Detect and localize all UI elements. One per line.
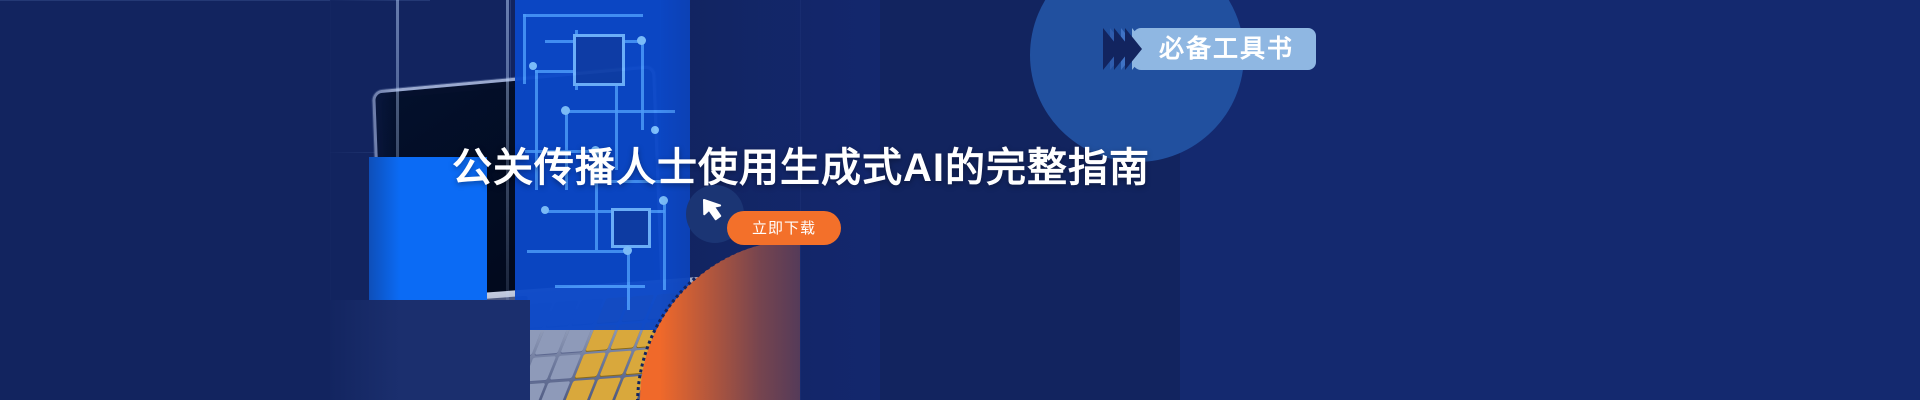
badge-label: 必备工具书: [1159, 37, 1294, 62]
download-button[interactable]: 立即下载: [727, 211, 841, 245]
promo-banner: 必备工具书 公关传播人士使用生成式AI的完整指南 立即下载: [0, 0, 1920, 400]
download-button-label: 立即下载: [752, 221, 816, 236]
page-title: 公关传播人士使用生成式AI的完整指南: [452, 147, 1150, 189]
chevron-right-icon: [1132, 28, 1149, 70]
cursor-arrow-icon: [700, 196, 730, 226]
badge-pill: 必备工具书: [1133, 28, 1316, 70]
photo-fade-left: [330, 0, 400, 400]
badge: 必备工具书: [1110, 28, 1316, 70]
